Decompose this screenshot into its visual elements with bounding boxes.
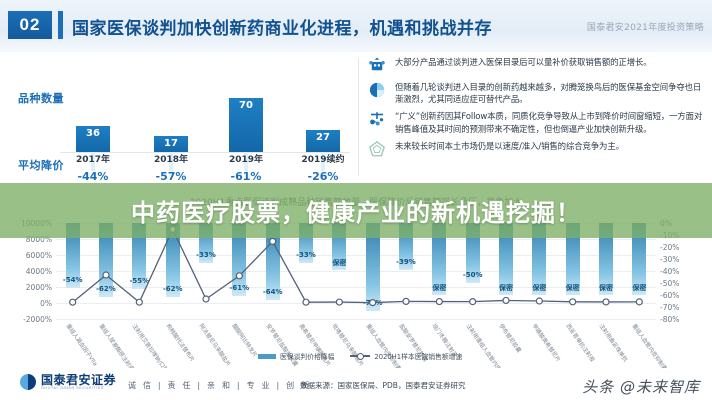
y-axis-right-tick: -70% [660, 303, 704, 312]
list-item: “广义”创新药因其Follow本质，同质化竞争导致从上市到降价时间窗缩短，一方面… [366, 108, 706, 134]
bar-drop-pct: -57% [140, 170, 202, 183]
x-axis-tick-label: 重组人凝血因子VIIa [64, 322, 99, 367]
list-item-text: 未来较长时间本土市场仍是以速度/准入/销售的综合竞争为主。 [395, 138, 624, 160]
y-axis-left-tick: 2000% [6, 283, 52, 292]
list-item-text: “广义”创新药因其Follow本质，同质化竞争导致从上市到降价时间窗缩短，一方面… [395, 108, 706, 134]
bar-drop-pct: -44% [62, 170, 124, 183]
x-axis-tick-label: 醋酸阿比特龙片 [231, 322, 260, 359]
company-logo: 国泰君安证券 GUOTAI JUNAN SECURITIES [20, 374, 116, 390]
list-item: 大部分产品通过谈判进入医保目录后可以量补价获取销售额的正增长。 [366, 54, 706, 76]
x-axis-tick-label: 甲磺酸奥希替尼片 [531, 322, 563, 363]
bar-group-2: 70 2019年 -61% [215, 52, 277, 183]
vertical-divider [358, 58, 359, 176]
y-axis-right-tick: -30% [660, 255, 704, 264]
bar-drop-pct: -26% [292, 170, 354, 183]
y-axis-right-tick: -50% [660, 279, 704, 288]
bar-category: 2018年 [140, 152, 202, 165]
y-axis-right-tick: -60% [660, 291, 704, 300]
molecule-icon [366, 108, 388, 130]
bar-value: 36 [86, 126, 100, 139]
slide-header: 02 国家医保谈判加快创新药商业化进程，机遇和挑战并存 国泰君安2021年度投资… [0, 0, 712, 52]
header-accent-bar [58, 11, 63, 39]
logo-mark-icon [20, 374, 36, 390]
chart-row-label-count: 品种数量 [18, 90, 64, 106]
y-axis-right-tick: -20% [660, 243, 704, 252]
page-title: 国家医保谈判加快创新药商业化进程，机遇和挑战并存 [72, 12, 492, 40]
bar-count: 27 [306, 130, 340, 152]
bar-count: 70 [229, 98, 263, 152]
legend-label: 医保谈判价格降幅 [280, 351, 334, 361]
bar-group-3: 27 2019续约 -26% [292, 52, 354, 183]
section-number-badge: 02 [8, 11, 52, 39]
legend-swatch-bar [258, 354, 276, 359]
y-axis-left-tick: 0% [6, 299, 52, 308]
bar-value: 70 [239, 98, 253, 111]
x-axis-tick-label: 枸橼酸托法替布片 [164, 322, 196, 363]
x-axis-tick-label: 注射用曲妥珠单抗 [597, 322, 629, 363]
chart-row-label-drop: 平均降价 [18, 157, 64, 173]
list-item: 但随着几轮谈判进入目录的创新药越来越多，对腾笼换鸟后的医保基金空间争夺也日渐激烈… [366, 79, 706, 105]
bar-group-0: 36 2017年 -44% [62, 52, 124, 183]
x-axis-tick-label: 伊布替尼胶囊 [497, 322, 523, 354]
insights-list: 大部分产品通过谈判进入医保目录后可以量补价获取销售额的正增长。 但随着几轮谈判进… [366, 54, 706, 182]
chart-gridline [56, 319, 656, 320]
negotiation-bar-chart: 品种数量 平均降价 36 2017年 -44% 17 2018年 -57% [0, 52, 358, 183]
header-report-note: 国泰君安2021年度投资策略 [587, 20, 704, 33]
y-axis-left-tick: 4000% [6, 267, 52, 276]
list-item: 未来较长时间本土市场仍是以速度/准入/销售的综合竞争为主。 [366, 138, 706, 160]
bar-count: 36 [76, 126, 110, 152]
factory-icon [366, 54, 388, 76]
x-axis-tick-label: 重组人血管内皮抑制素 [364, 322, 403, 372]
bar-category: 2019年 [215, 152, 277, 165]
bar-drop-pct: -61% [215, 170, 277, 183]
pentagon-icon [366, 138, 388, 160]
slide-footer: 国泰君安证券 GUOTAI JUNAN SECURITIES 诚 信 | 责 任… [0, 368, 712, 400]
y-axis-left-tick: 6000% [6, 251, 52, 260]
y-axis-right-tick: -80% [660, 315, 704, 324]
y-axis-right-tick: -40% [660, 267, 704, 276]
bar-value: 17 [164, 136, 178, 149]
legend-swatch-line [350, 355, 370, 357]
watermark: 头条 @未来智库 [582, 376, 700, 397]
bar-count: 17 [154, 136, 188, 152]
bar-group-1: 17 2018年 -57% [140, 52, 202, 183]
pie-chart-icon [366, 79, 388, 101]
chart-legend: 医保谈判价格降幅 2020H1样本医院销售额增速 [258, 351, 462, 361]
article-title: 中药医疗股票，健康产业的新机遇挖掘！ [131, 193, 581, 228]
bar-category: 2019续约 [292, 152, 354, 165]
x-axis-tick-label: 西妥昔单抗注射液 [564, 322, 596, 363]
slide-page: 02 国家医保谈判加快创新药商业化进程，机遇和挑战并存 国泰君安2021年度投资… [0, 0, 712, 400]
data-source: 数据来源：国家医保局、PDB，国泰君安证券研究 [300, 380, 465, 391]
legend-item-line: 2020H1样本医院销售额增速 [350, 351, 462, 361]
company-name: 国泰君安证券 [41, 374, 116, 386]
legend-label: 2020H1样本医院销售额增速 [374, 351, 462, 361]
x-axis-tick-label: 阿法替尼马来酸盐片 [197, 322, 232, 368]
bar-category: 2017年 [62, 152, 124, 165]
y-axis-left-tick: -2000% [6, 315, 52, 324]
list-item-text: 大部分产品通过谈判进入医保目录后可以量补价获取销售额的正增长。 [395, 54, 652, 76]
list-item-text: 但随着几轮谈判进入目录的创新药越来越多，对腾笼换鸟后的医保基金空间争夺也日渐激烈… [395, 79, 706, 105]
article-title-banner: 中药医疗股票，健康产业的新机遇挖掘！ [0, 183, 712, 238]
legend-item-bars: 医保谈判价格降幅 [258, 351, 334, 361]
x-axis-tick-label: 重组人尿激酶原注射液 [97, 322, 136, 372]
company-slogan: 诚 信 | 责 任 | 亲 和 | 专 业 | 创 新 [128, 380, 311, 391]
upper-content: 品种数量 平均降价 36 2017年 -44% 17 2018年 -57% [0, 52, 712, 183]
bar-value: 27 [316, 130, 330, 143]
